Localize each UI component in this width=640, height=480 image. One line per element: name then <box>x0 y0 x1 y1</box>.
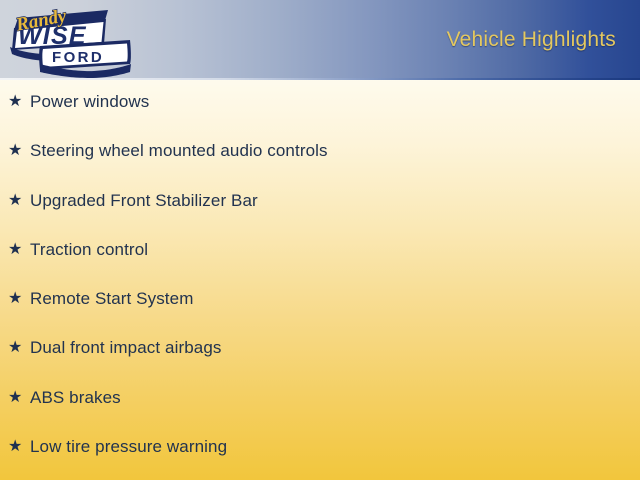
star-bullet-icon: ★ <box>8 94 30 110</box>
vehicle-highlights-list: ★ Power windows ★ Steering wheel mounted… <box>0 82 640 480</box>
list-item-label: Traction control <box>30 240 148 260</box>
star-bullet-icon: ★ <box>8 193 30 209</box>
list-item-label: Steering wheel mounted audio controls <box>30 141 328 161</box>
list-item-label: Low tire pressure warning <box>30 437 227 457</box>
list-item: ★ Low tire pressure warning <box>8 435 227 459</box>
logo-artwork: WISE FORD Randy <box>4 2 136 78</box>
list-item-label: Remote Start System <box>30 289 193 309</box>
vehicle-highlights-slide: WISE FORD Randy Vehicle Highlights ★ <box>0 0 640 480</box>
star-bullet-icon: ★ <box>8 340 30 356</box>
star-bullet-icon: ★ <box>8 390 30 406</box>
page-header: WISE FORD Randy Vehicle Highlights <box>0 0 640 80</box>
list-item: ★ Steering wheel mounted audio controls <box>8 139 328 163</box>
list-item: ★ ABS brakes <box>8 386 121 410</box>
logo-ford-text: FORD <box>52 49 104 66</box>
page-title: Vehicle Highlights <box>447 28 616 52</box>
randy-wise-ford-logo[interactable]: WISE FORD Randy <box>4 2 136 78</box>
list-item: ★ Dual front impact airbags <box>8 336 221 360</box>
list-item: ★ Remote Start System <box>8 287 193 311</box>
list-item-label: Upgraded Front Stabilizer Bar <box>30 191 258 211</box>
list-item-label: ABS brakes <box>30 388 121 408</box>
star-bullet-icon: ★ <box>8 242 30 258</box>
list-item-label: Dual front impact airbags <box>30 338 221 358</box>
star-bullet-icon: ★ <box>8 439 30 455</box>
list-item-label: Power windows <box>30 92 149 112</box>
list-item: ★ Traction control <box>8 238 148 262</box>
star-bullet-icon: ★ <box>8 291 30 307</box>
list-item: ★ Upgraded Front Stabilizer Bar <box>8 189 258 213</box>
list-item: ★ Power windows <box>8 90 149 114</box>
star-bullet-icon: ★ <box>8 143 30 159</box>
header-divider <box>0 78 640 80</box>
